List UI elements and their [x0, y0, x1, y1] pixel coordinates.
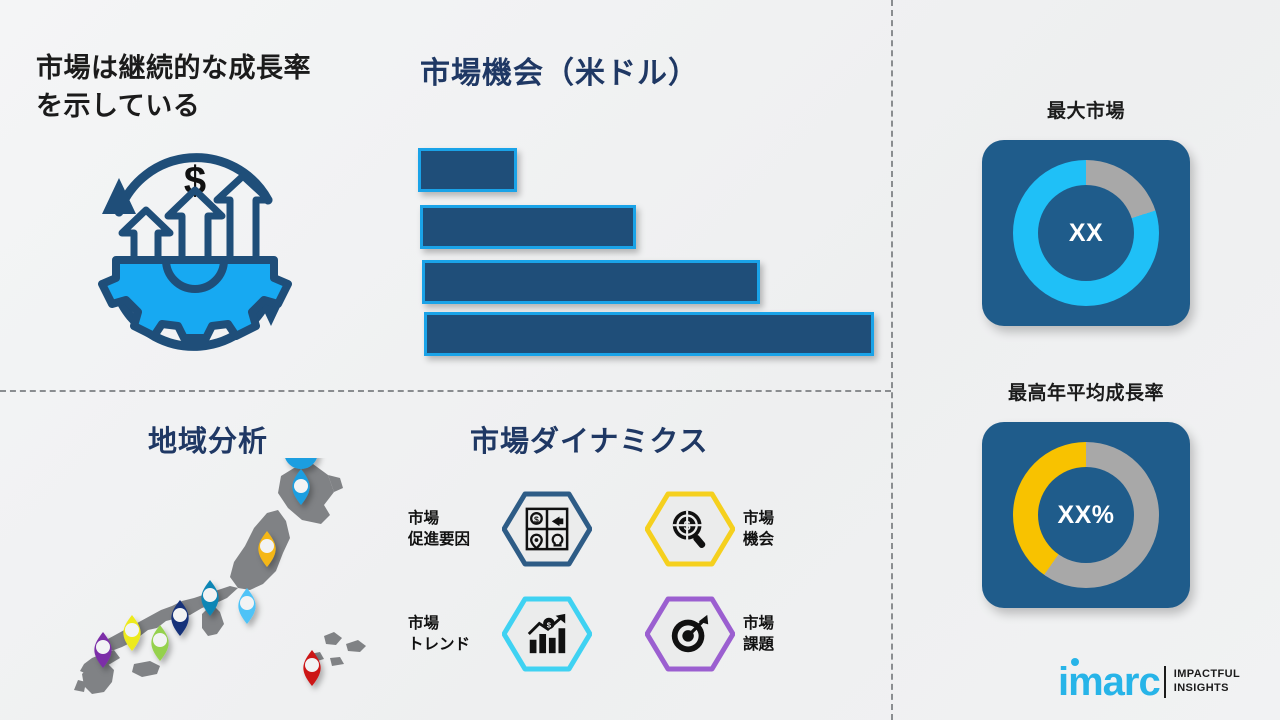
- slide-canvas: 市場は継続的な成長率 を示している $ 市場機会（米ドル） 地域分析: [0, 0, 1280, 720]
- market-opportunity-bar-chart: [418, 146, 888, 356]
- dynamics-item-drivers[interactable]: 市場 促進要因 $: [408, 490, 592, 568]
- logo-divider: [1164, 666, 1166, 698]
- logo-tagline-line1: IMPACTFUL: [1174, 668, 1240, 682]
- map-pin-shikoku: [123, 615, 140, 651]
- bar-3: [422, 260, 760, 304]
- hexagon-challenges: [645, 595, 735, 673]
- dynamics-label-challenges: 市場 課題: [743, 613, 829, 656]
- dynamics-panel-title: 市場ダイナミクス: [470, 418, 709, 460]
- dynamics-label-trends: 市場 トレンド: [408, 613, 494, 656]
- hexagon-trends: $: [502, 595, 592, 673]
- hexagon-drivers: $: [502, 490, 592, 568]
- horizontal-divider: [0, 390, 891, 392]
- hexagon-opportunity: $: [645, 490, 735, 568]
- dynamics-label-opportunity: 市場 機会: [743, 508, 829, 551]
- growth-bar-chart-icon: $: [524, 611, 570, 657]
- bar-2: [420, 205, 636, 249]
- largest-market-donut-hole: XX: [1038, 185, 1134, 281]
- largest-market-title: 最大市場: [962, 96, 1210, 123]
- map-pin-chugoku: [151, 625, 168, 661]
- map-pin-kanto: [238, 588, 255, 624]
- dynamics-item-opportunity[interactable]: $ 市場 機会: [645, 490, 829, 568]
- largest-market-card: XX: [982, 140, 1190, 326]
- highest-cagr-donut-hole: XX%: [1038, 467, 1134, 563]
- logo-tagline-line2: INSIGHTS: [1174, 682, 1240, 696]
- largest-market-donut: XX: [1013, 160, 1159, 306]
- dollar-magnifier-icon: $: [667, 506, 713, 552]
- svg-text:$: $: [547, 620, 552, 629]
- japan-landmass: [74, 464, 366, 694]
- highest-cagr-donut: XX%: [1013, 442, 1159, 588]
- puzzle-pieces-icon: $: [524, 506, 570, 552]
- logo-wordmark: imarc: [1058, 662, 1160, 702]
- imarc-logo: imarc IMPACTFUL INSIGHTS: [1058, 658, 1258, 706]
- vertical-divider: [891, 0, 893, 720]
- japan-map-illustration: [62, 458, 392, 696]
- dynamics-item-trends[interactable]: 市場 トレンド $: [408, 595, 592, 673]
- largest-market-value: XX: [1069, 219, 1103, 248]
- highest-cagr-card: XX%: [982, 422, 1190, 608]
- logo-dot: [1071, 658, 1079, 666]
- growth-cycle-gear-icon: $: [72, 138, 318, 366]
- svg-text:$: $: [534, 514, 539, 524]
- target-dart-icon: [667, 611, 713, 657]
- highest-cagr-value: XX%: [1057, 501, 1114, 530]
- dynamics-item-challenges[interactable]: 市場 課題: [645, 595, 829, 673]
- growth-panel-title: 市場は継続的な成長率 を示している: [36, 50, 396, 126]
- bar-4: [424, 312, 874, 356]
- opportunity-panel-title: 市場機会（米ドル）: [420, 48, 840, 92]
- regional-panel-title: 地域分析: [148, 418, 268, 460]
- dynamics-label-drivers: 市場 促進要因: [408, 508, 494, 551]
- bar-1: [418, 148, 517, 192]
- highest-cagr-title: 最高年平均成長率: [952, 378, 1220, 405]
